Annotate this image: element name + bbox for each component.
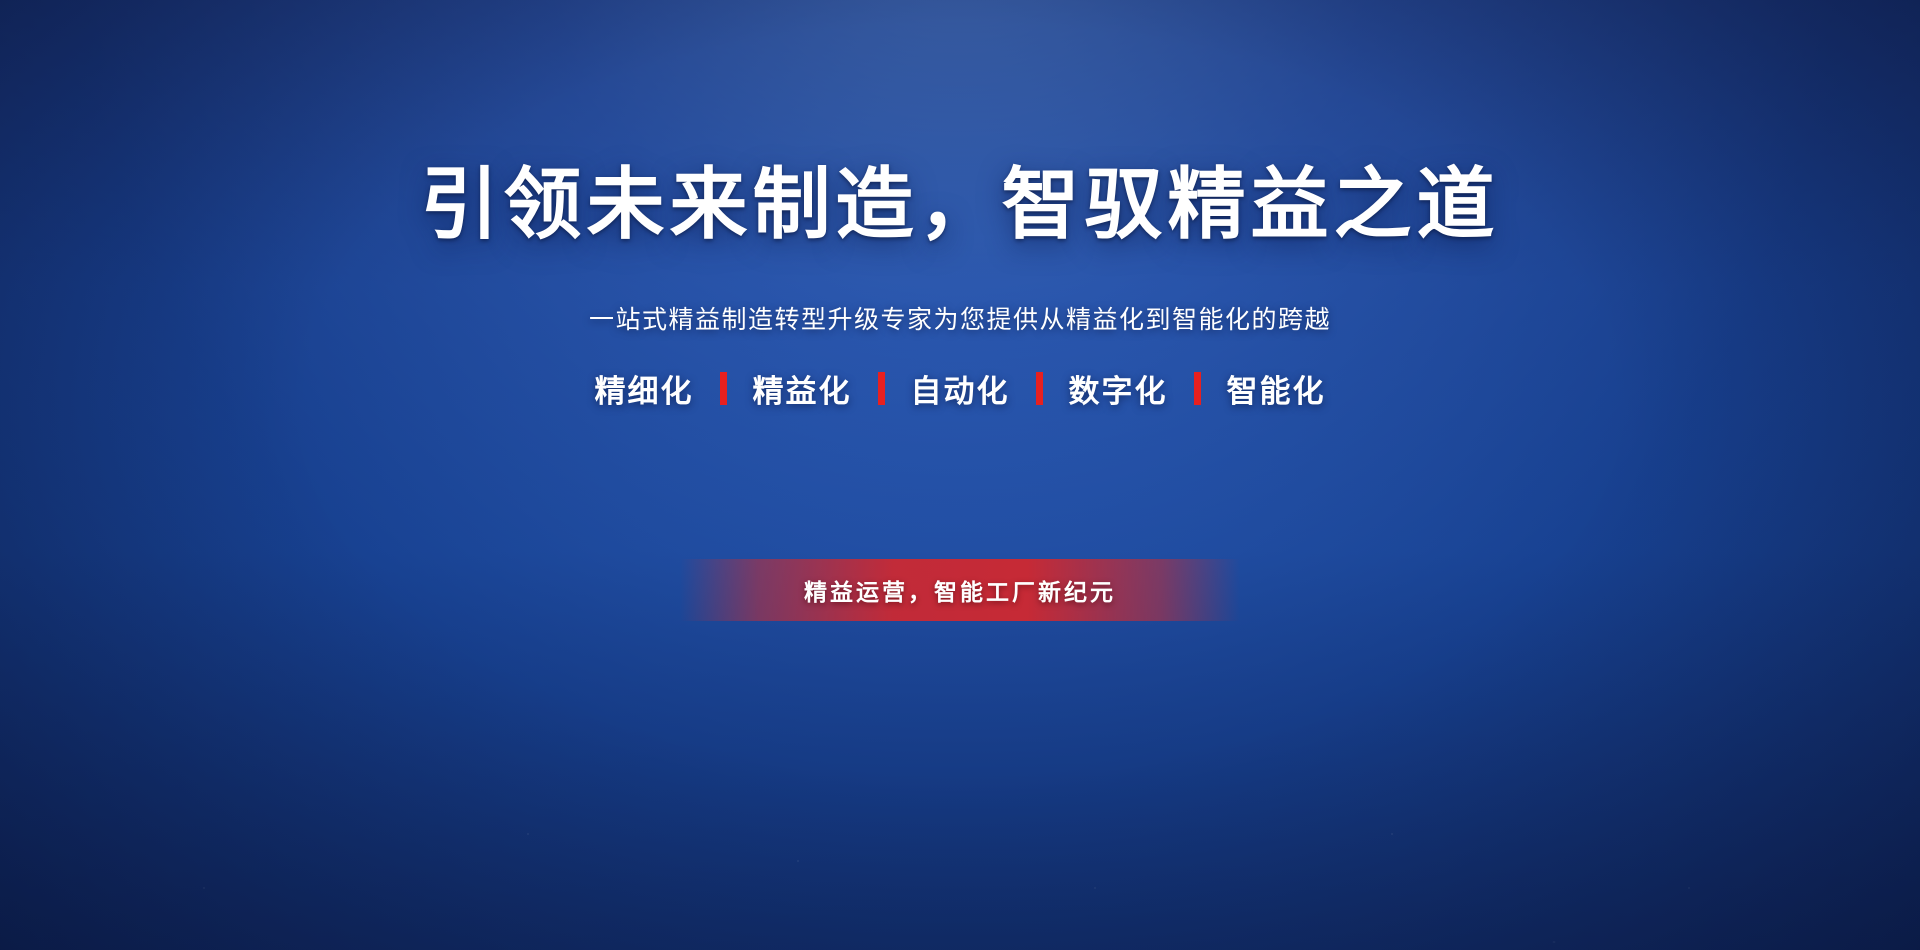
page-subtitle: 一站式精益制造转型升级专家为您提供从精益化到智能化的跨越 bbox=[589, 300, 1331, 336]
keyword-separator-icon bbox=[720, 372, 727, 405]
keyword-item: 精益化 bbox=[753, 366, 852, 411]
page-title: 引领未来制造，智驭精益之道 bbox=[420, 142, 1499, 254]
keyword-separator-icon bbox=[1194, 372, 1201, 405]
tagline-badge: 精益运营，智能工厂新纪元 bbox=[680, 559, 1240, 621]
keyword-item: 智能化 bbox=[1227, 366, 1326, 411]
keyword-item: 数字化 bbox=[1069, 366, 1168, 411]
keyword-separator-icon bbox=[878, 372, 885, 405]
keyword-item: 自动化 bbox=[911, 366, 1010, 411]
hero-banner: 技能道场 SKILL DOJO 质量反省 QUALITY REFLECTION … bbox=[0, 0, 1920, 950]
tagline-text: 精益运营，智能工厂新纪元 bbox=[804, 573, 1116, 607]
keyword-list: 精细化 精益化 自动化 数字化 智能化 bbox=[595, 366, 1326, 411]
banner-content: 引领未来制造，智驭精益之道 一站式精益制造转型升级专家为您提供从精益化到智能化的… bbox=[0, 0, 1920, 950]
keyword-item: 精细化 bbox=[595, 366, 694, 411]
keyword-separator-icon bbox=[1036, 372, 1043, 405]
